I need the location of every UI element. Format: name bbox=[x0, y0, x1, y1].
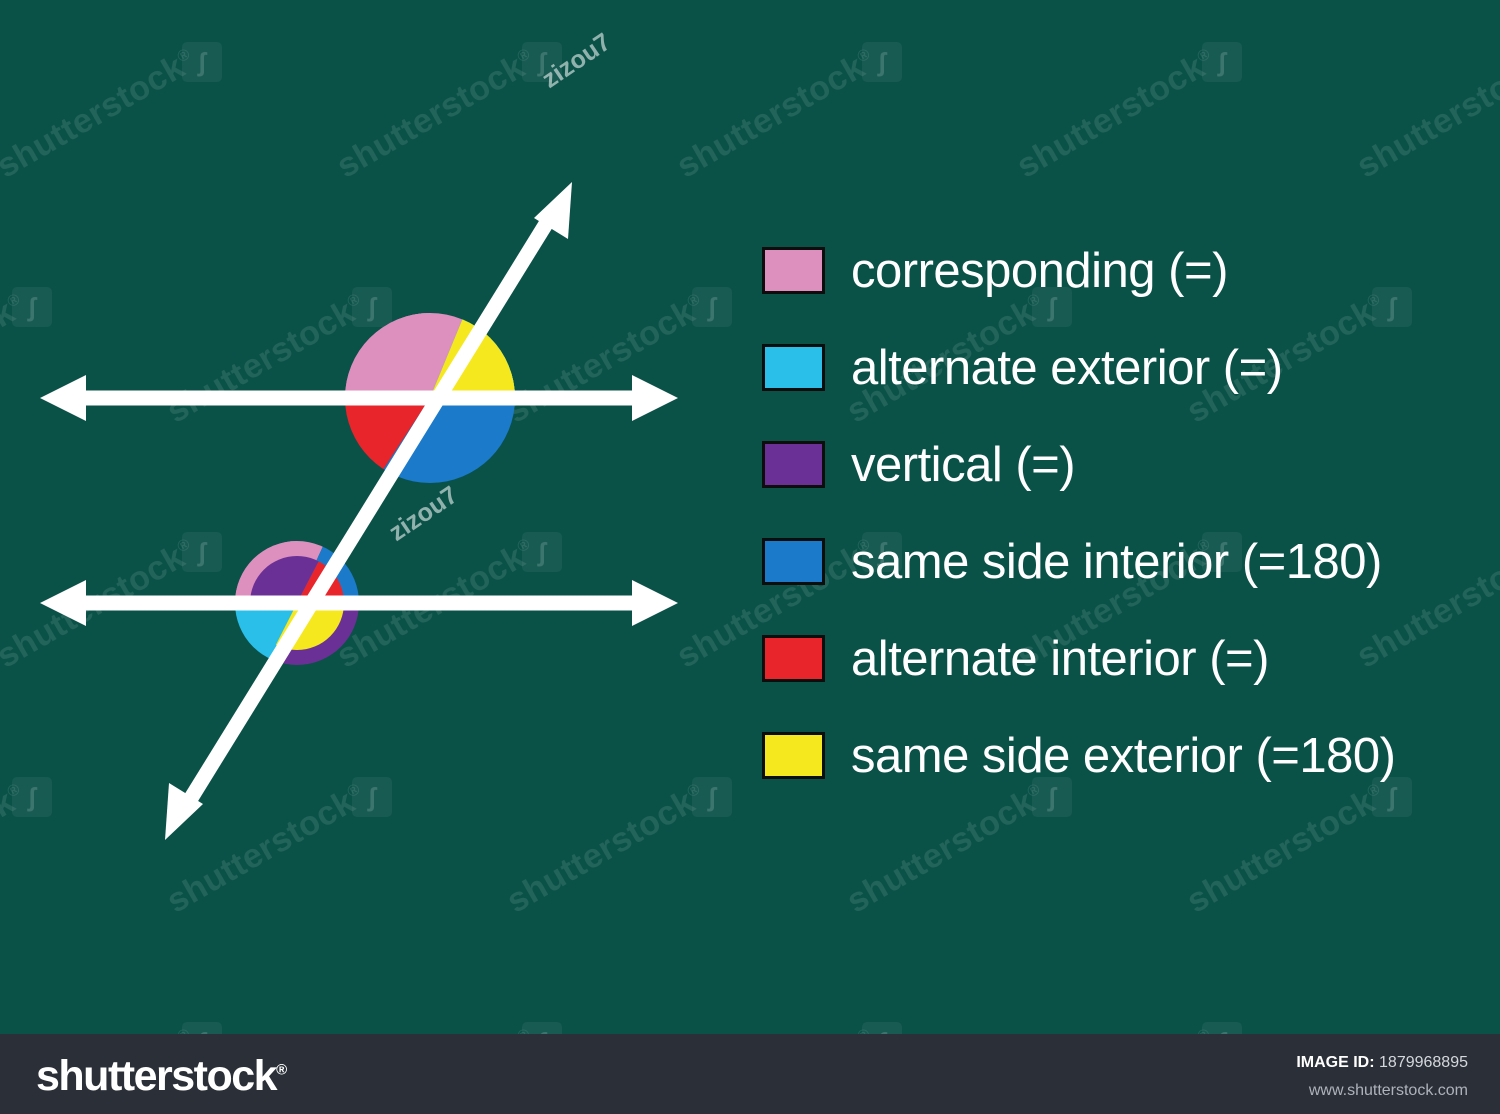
legend: corresponding (=) alternate exterior (=)… bbox=[762, 222, 1492, 804]
legend-label: same side interior (=180) bbox=[851, 534, 1382, 590]
watermark-text: shutterstock® bbox=[1350, 1021, 1500, 1034]
image-id-value: 1879968895 bbox=[1379, 1054, 1468, 1071]
footer-bar: shutterstock® IMAGE ID: 1879968895 www.s… bbox=[0, 1034, 1500, 1114]
arrow-right-bottom bbox=[632, 580, 678, 626]
bottom-parallel-line bbox=[40, 580, 678, 626]
legend-item-vertical: vertical (=) bbox=[762, 416, 1492, 513]
site-url: www.shutterstock.com bbox=[1309, 1082, 1468, 1100]
legend-item-same-side-exterior: same side exterior (=180) bbox=[762, 707, 1492, 804]
shutterstock-logo: shutterstock® bbox=[36, 1052, 287, 1101]
watermark-glyph-icon: ʃ bbox=[862, 1022, 902, 1034]
color-swatch-icon bbox=[762, 635, 825, 682]
arrow-left-bottom bbox=[40, 580, 86, 626]
watermark-glyph-icon: ʃ bbox=[1202, 42, 1242, 82]
color-swatch-icon bbox=[762, 344, 825, 391]
color-swatch-icon bbox=[762, 538, 825, 585]
legend-label: corresponding (=) bbox=[851, 243, 1228, 299]
registered-mark-icon: ® bbox=[276, 1062, 287, 1079]
screenshot-root: shutterstock®ʃshutterstock®ʃshutterstock… bbox=[0, 0, 1500, 1114]
color-swatch-icon bbox=[762, 441, 825, 488]
legend-item-alternate-exterior: alternate exterior (=) bbox=[762, 319, 1492, 416]
watermark-glyph-icon: ʃ bbox=[1202, 1022, 1242, 1034]
arrow-right-top bbox=[632, 375, 678, 421]
legend-item-same-side-interior: same side interior (=180) bbox=[762, 513, 1492, 610]
illustration-canvas: shutterstock®ʃshutterstock®ʃshutterstock… bbox=[0, 0, 1500, 1034]
logo-text: shutterstock bbox=[36, 1052, 276, 1100]
geometry-diagram: zizou7 zizou7 bbox=[0, 0, 760, 1034]
watermark-text: shutterstock® bbox=[1010, 41, 1222, 186]
diagram-svg bbox=[0, 0, 760, 1034]
legend-label: alternate exterior (=) bbox=[851, 340, 1283, 396]
watermark-text: shutterstock® bbox=[1350, 41, 1500, 186]
legend-label: alternate interior (=) bbox=[851, 631, 1269, 687]
color-swatch-icon bbox=[762, 247, 825, 294]
image-id-label: IMAGE ID: bbox=[1296, 1054, 1374, 1071]
legend-label: vertical (=) bbox=[851, 437, 1075, 493]
arrow-left-top bbox=[40, 375, 86, 421]
watermark-glyph-icon: ʃ bbox=[862, 42, 902, 82]
legend-item-corresponding: corresponding (=) bbox=[762, 222, 1492, 319]
watermark-text: shutterstock® bbox=[1010, 1021, 1222, 1034]
legend-label: same side exterior (=180) bbox=[851, 728, 1395, 784]
color-swatch-icon bbox=[762, 732, 825, 779]
legend-item-alternate-interior: alternate interior (=) bbox=[762, 610, 1492, 707]
image-id: IMAGE ID: 1879968895 bbox=[1296, 1054, 1468, 1072]
transversal-line bbox=[165, 182, 572, 840]
